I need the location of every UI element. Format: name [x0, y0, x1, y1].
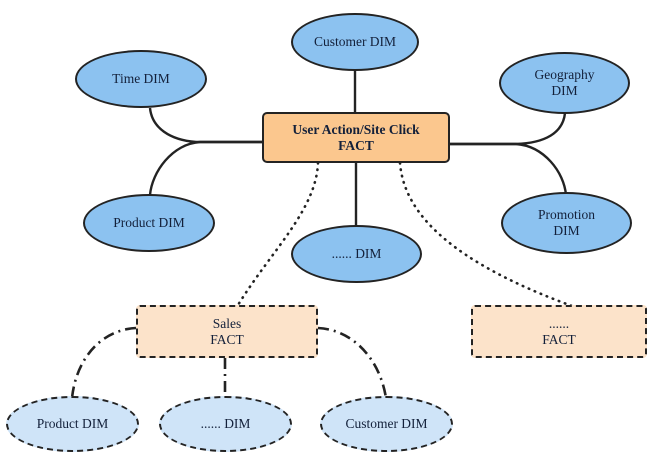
edge-geography-dim-to-main-fact: [450, 113, 565, 144]
node-ellipsis-dim-sub[interactable]: ...... DIM: [159, 396, 292, 452]
node-label: Promotion DIM: [534, 207, 599, 239]
node-sales-fact[interactable]: Sales FACT: [136, 305, 318, 358]
node-customer-dim-top[interactable]: Customer DIM: [291, 13, 419, 71]
node-label: ...... FACT: [538, 316, 580, 348]
node-geography-dim[interactable]: Geography DIM: [499, 52, 630, 114]
node-ellipsis-fact[interactable]: ...... FACT: [471, 305, 647, 358]
node-label: Geography DIM: [531, 67, 599, 99]
node-label: User Action/Site Click FACT: [288, 122, 423, 154]
node-label: Sales FACT: [206, 316, 248, 348]
node-label: Product DIM: [33, 416, 113, 432]
edge-promotion-dim-to-main-fact: [450, 144, 566, 195]
node-label: Customer DIM: [310, 34, 400, 50]
schema-diagram: Customer DIM Time DIM Geography DIM Prod…: [0, 0, 669, 472]
node-ellipsis-dim[interactable]: ...... DIM: [291, 225, 422, 283]
edge-sales-fact-to-customer-dim-sub: [318, 328, 386, 398]
node-time-dim[interactable]: Time DIM: [75, 50, 207, 108]
node-promotion-dim[interactable]: Promotion DIM: [501, 192, 632, 254]
node-customer-dim-sub[interactable]: Customer DIM: [320, 396, 453, 452]
node-label: ...... DIM: [197, 416, 255, 432]
edge-main-fact-to-sales-fact: [238, 163, 318, 305]
node-label: Customer DIM: [341, 416, 431, 432]
edge-time-dim-to-main-fact: [150, 108, 262, 142]
node-label: Product DIM: [109, 215, 189, 231]
node-label: ...... DIM: [328, 246, 386, 262]
node-main-fact[interactable]: User Action/Site Click FACT: [262, 112, 450, 163]
edge-product-dim-to-main-fact: [150, 142, 262, 195]
node-product-dim-sub[interactable]: Product DIM: [6, 396, 139, 452]
node-label: Time DIM: [108, 71, 174, 87]
node-product-dim[interactable]: Product DIM: [83, 194, 215, 252]
edge-sales-fact-to-product-dim-sub: [72, 328, 136, 398]
